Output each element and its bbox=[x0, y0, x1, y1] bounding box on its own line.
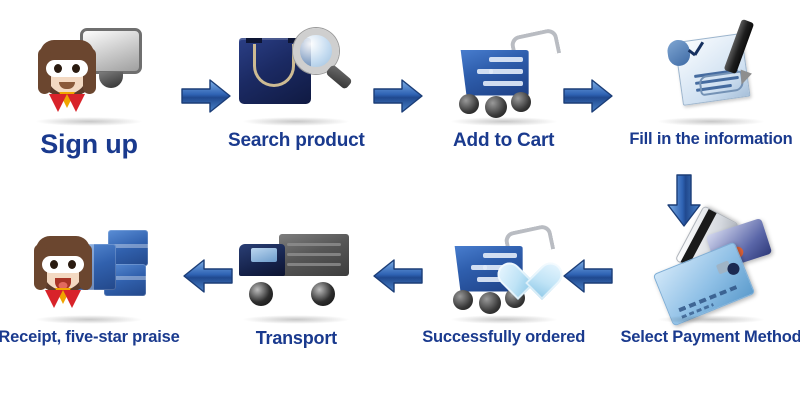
step-label-search-product: Search product bbox=[228, 131, 365, 150]
step-label-receipt-praise: Receipt, five-star praise bbox=[0, 329, 180, 346]
user-computer-icon bbox=[0, 14, 178, 129]
step-fill-information[interactable]: Fill in the information bbox=[622, 14, 800, 184]
step-label-successfully-ordered: Successfully ordered bbox=[422, 329, 585, 346]
arrow-right-icon-2 bbox=[370, 75, 426, 117]
step-label-fill-information: Fill in the information bbox=[629, 131, 792, 148]
arrow-left-icon-2 bbox=[370, 255, 426, 297]
step-label-transport: Transport bbox=[256, 329, 337, 347]
credit-cards-icon bbox=[622, 212, 800, 327]
step-label-add-to-cart: Add to Cart bbox=[453, 131, 554, 150]
step-sign-up[interactable]: Sign up bbox=[0, 14, 178, 184]
flow-row-bottom: Receipt, five-star praise bbox=[0, 212, 800, 392]
step-successfully-ordered[interactable]: Successfully ordered bbox=[415, 212, 593, 382]
arrow-right-icon-3 bbox=[560, 75, 616, 117]
arrow-left-icon-3 bbox=[180, 255, 236, 297]
user-packages-icon bbox=[0, 212, 178, 327]
arrow-left-icon-1 bbox=[560, 255, 616, 297]
step-search-product[interactable]: Search product bbox=[207, 14, 385, 184]
arrow-right-icon-1 bbox=[178, 75, 234, 117]
arrow-down-icon bbox=[663, 170, 705, 232]
step-receipt-praise[interactable]: Receipt, five-star praise bbox=[0, 212, 178, 382]
process-flow-diagram: Sign up Search product bbox=[0, 0, 800, 400]
step-select-payment[interactable]: Select Payment Method bbox=[622, 212, 800, 382]
step-label-select-payment: Select Payment Method bbox=[620, 329, 800, 346]
form-pen-icon bbox=[622, 14, 800, 129]
shopping-bag-search-icon bbox=[207, 14, 385, 129]
step-transport[interactable]: Transport bbox=[207, 212, 385, 382]
step-label-sign-up: Sign up bbox=[40, 131, 138, 158]
